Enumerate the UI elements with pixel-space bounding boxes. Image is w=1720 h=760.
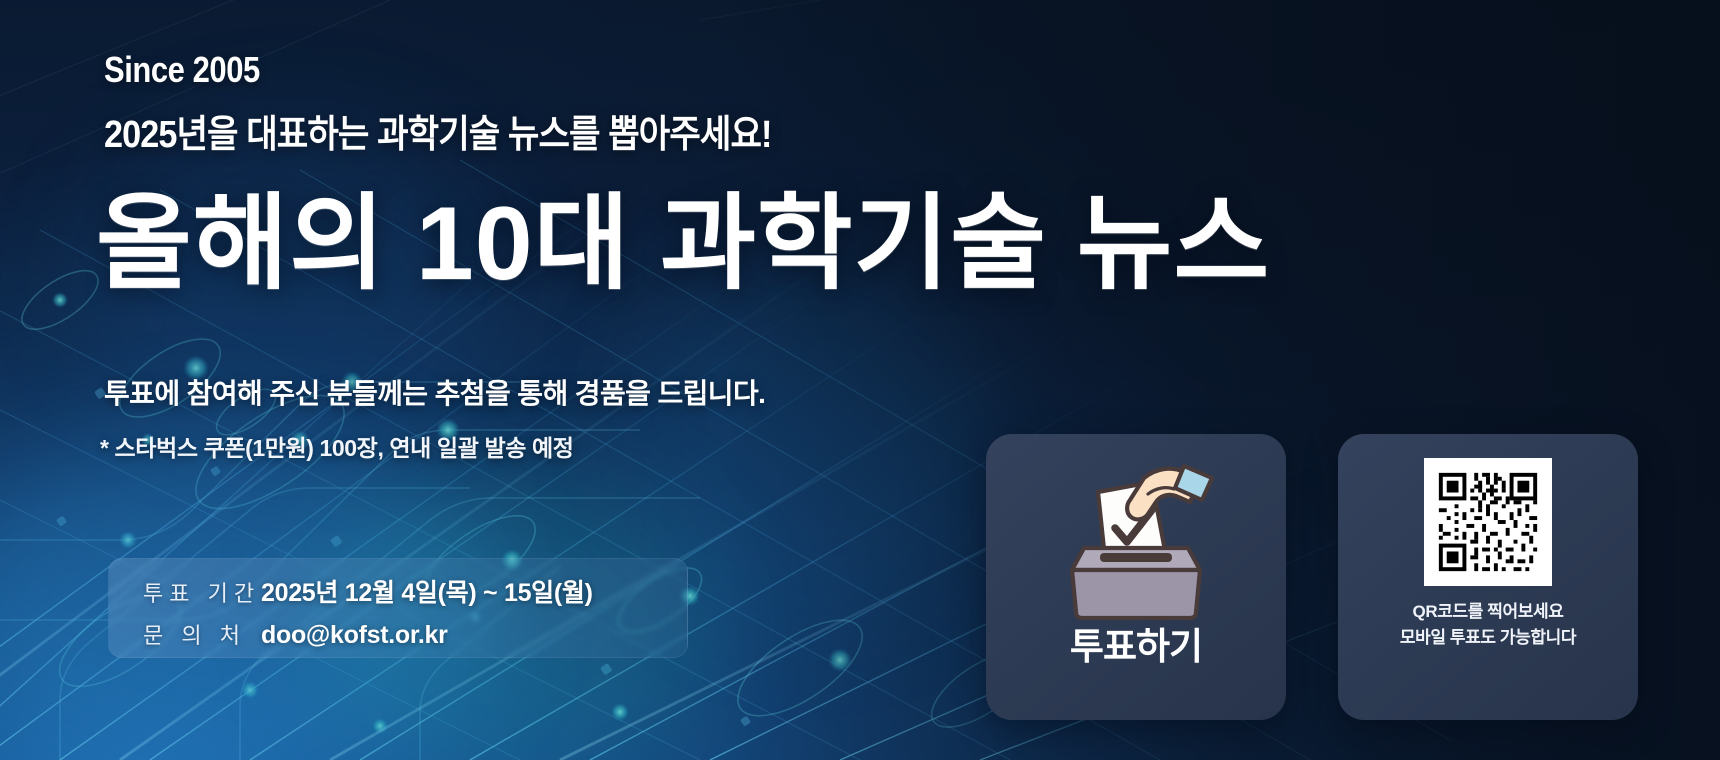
vote-button-card[interactable]: 투표하기	[986, 434, 1286, 720]
headline-copy-group: Since 2005 2025년을 대표하는 과학기술 뉴스를 뽑아주세요!	[104, 52, 1104, 154]
promo-banner: Since 2005 2025년을 대표하는 과학기술 뉴스를 뽑아주세요! 올…	[0, 0, 1720, 760]
info-panel: 투표 기간 2025년 12월 4일(목) ~ 15일(월) 문 의 처 doo…	[108, 558, 688, 658]
info-row-contact: 문 의 처 doo@kofst.or.kr	[143, 618, 687, 650]
qr-caption-line-2: 모바일 투표도 가능합니다	[1400, 625, 1576, 651]
info-value-contact: doo@kofst.or.kr	[261, 621, 448, 650]
prize-note: * 스타벅스 쿠폰(1만원) 100장, 연내 일괄 발송 예정	[100, 437, 573, 460]
ballot-box-hand-icon	[1044, 452, 1228, 624]
qr-code-card[interactable]: QR코드를 찍어보세요 모바일 투표도 가능합니다	[1338, 434, 1638, 720]
qr-caption-line-1: QR코드를 찍어보세요	[1400, 599, 1576, 625]
info-value-period: 2025년 12월 4일(목) ~ 15일(월)	[261, 573, 593, 609]
info-label-period: 투표 기간	[143, 576, 261, 608]
prize-message: 투표에 참여해 주신 분들께는 추첨을 통해 경품을 드립니다.	[104, 380, 765, 408]
qr-code-icon	[1424, 458, 1552, 586]
info-label-contact: 문 의 처	[143, 618, 261, 650]
banner-subtitle: 2025년을 대표하는 과학기술 뉴스를 뽑아주세요!	[104, 116, 1004, 154]
since-label: Since 2005	[104, 52, 964, 88]
info-row-period: 투표 기간 2025년 12월 4일(목) ~ 15일(월)	[143, 573, 687, 609]
page-title: 올해의 10대 과학기술 뉴스	[96, 192, 1270, 296]
vote-card-label: 투표하기	[1070, 628, 1202, 665]
qr-card-caption: QR코드를 찍어보세요 모바일 투표도 가능합니다	[1400, 599, 1576, 650]
